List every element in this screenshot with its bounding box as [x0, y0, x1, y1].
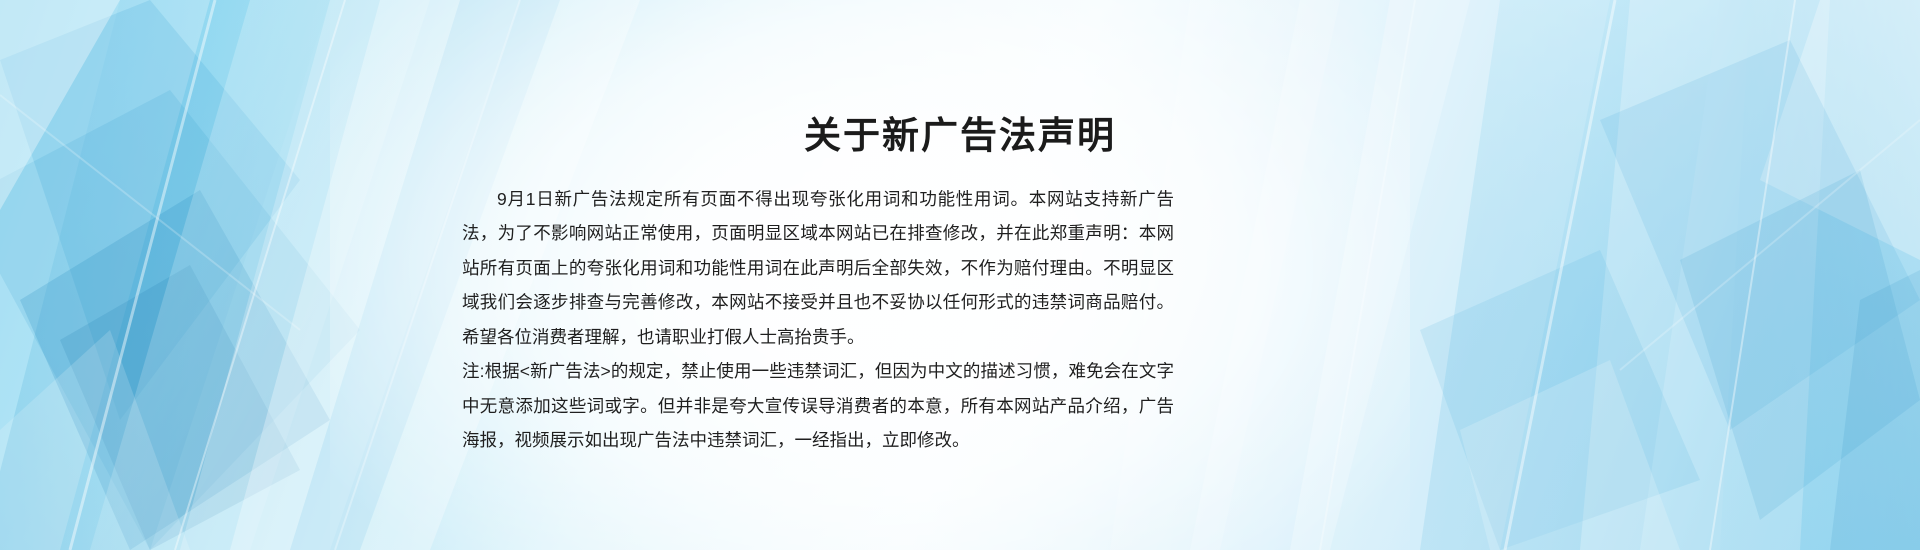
page-title: 关于新广告法声明 [0, 113, 1920, 159]
statement-body: 9月1日新广告法规定所有页面不得出现夸张化用词和功能性用词。本网站支持新广告法，… [462, 182, 1174, 458]
statement-note-paragraph: 注:根据<新广告法>的规定，禁止使用一些违禁词汇，但因为中文的描述习惯，难免会在… [462, 354, 1174, 457]
statement-paragraph: 9月1日新广告法规定所有页面不得出现夸张化用词和功能性用词。本网站支持新广告法，… [462, 182, 1174, 354]
advertising-law-statement-banner: 关于新广告法声明 9月1日新广告法规定所有页面不得出现夸张化用词和功能性用词。本… [0, 0, 1920, 550]
statement-content: 关于新广告法声明 9月1日新广告法规定所有页面不得出现夸张化用词和功能性用词。本… [0, 0, 1920, 550]
